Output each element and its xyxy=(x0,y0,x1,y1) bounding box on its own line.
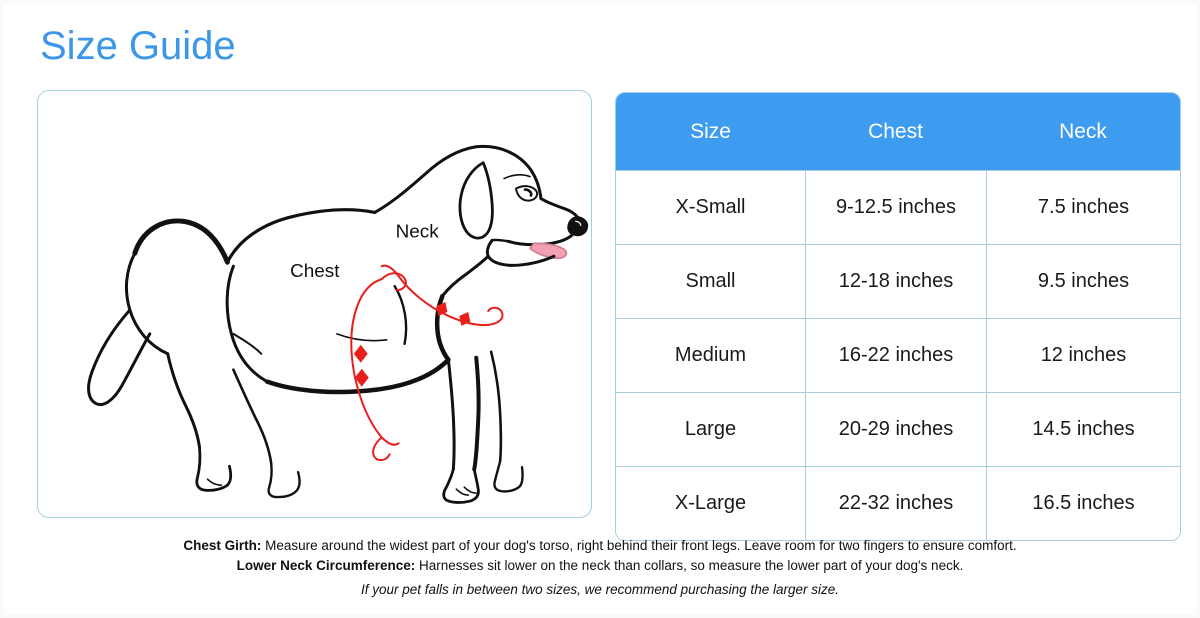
dog-illustration: Neck Chest xyxy=(38,91,591,517)
cell-neck: 14.5 inches xyxy=(986,392,1180,466)
measurement-lines xyxy=(351,266,502,460)
dog-illustration-panel: Neck Chest xyxy=(37,90,592,518)
size-table: Size Chest Neck X-Small 9-12.5 inches 7.… xyxy=(615,92,1181,541)
chest-measure-line xyxy=(351,279,381,437)
cell-neck: 9.5 inches xyxy=(986,244,1180,318)
size-guide-page: Size Guide xyxy=(0,0,1200,618)
cell-size: Medium xyxy=(616,318,805,392)
column-header-size: Size xyxy=(616,93,805,170)
size-table-body: X-Small 9-12.5 inches 7.5 inches Small 1… xyxy=(616,170,1180,540)
note-chest-girth: Chest Girth: Measure around the widest p… xyxy=(4,536,1196,556)
table-row: X-Large 22-32 inches 16.5 inches xyxy=(616,466,1180,540)
note-neck-label: Lower Neck Circumference: xyxy=(237,558,416,573)
cell-chest: 12-18 inches xyxy=(805,244,986,318)
note-chest-text: Measure around the widest part of your d… xyxy=(261,538,1016,553)
note-sizing-advice: If your pet falls in between two sizes, … xyxy=(4,582,1196,597)
measure-arrow-markers xyxy=(354,302,470,387)
cell-size: Large xyxy=(616,392,805,466)
note-neck-text: Harnesses sit lower on the neck than col… xyxy=(415,558,963,573)
cell-chest: 16-22 inches xyxy=(805,318,986,392)
size-table-head: Size Chest Neck xyxy=(616,93,1180,170)
cell-size: X-Large xyxy=(616,466,805,540)
cell-chest: 20-29 inches xyxy=(805,392,986,466)
cell-size: X-Small xyxy=(616,170,805,244)
note-neck-circumference: Lower Neck Circumference: Harnesses sit … xyxy=(4,556,1196,576)
chest-label: Chest xyxy=(290,261,340,282)
column-header-chest: Chest xyxy=(805,93,986,170)
table-row: Large 20-29 inches 14.5 inches xyxy=(616,392,1180,466)
cell-size: Small xyxy=(616,244,805,318)
cell-neck: 7.5 inches xyxy=(986,170,1180,244)
table-row: X-Small 9-12.5 inches 7.5 inches xyxy=(616,170,1180,244)
content-canvas: Size Guide xyxy=(4,4,1196,614)
neck-label: Neck xyxy=(396,221,440,242)
table-row: Medium 16-22 inches 12 inches xyxy=(616,318,1180,392)
cell-chest: 9-12.5 inches xyxy=(805,170,986,244)
note-chest-label: Chest Girth: xyxy=(183,538,261,553)
cell-neck: 12 inches xyxy=(986,318,1180,392)
dog-outline xyxy=(89,146,587,502)
page-title: Size Guide xyxy=(40,22,236,70)
measurement-notes: Chest Girth: Measure around the widest p… xyxy=(4,536,1196,576)
chest-arrow-up xyxy=(354,345,368,363)
table-row: Small 12-18 inches 9.5 inches xyxy=(616,244,1180,318)
cell-neck: 16.5 inches xyxy=(986,466,1180,540)
table-header-row: Size Chest Neck xyxy=(616,93,1180,170)
cell-chest: 22-32 inches xyxy=(805,466,986,540)
column-header-neck: Neck xyxy=(986,93,1180,170)
neck-measure-line xyxy=(399,276,489,325)
